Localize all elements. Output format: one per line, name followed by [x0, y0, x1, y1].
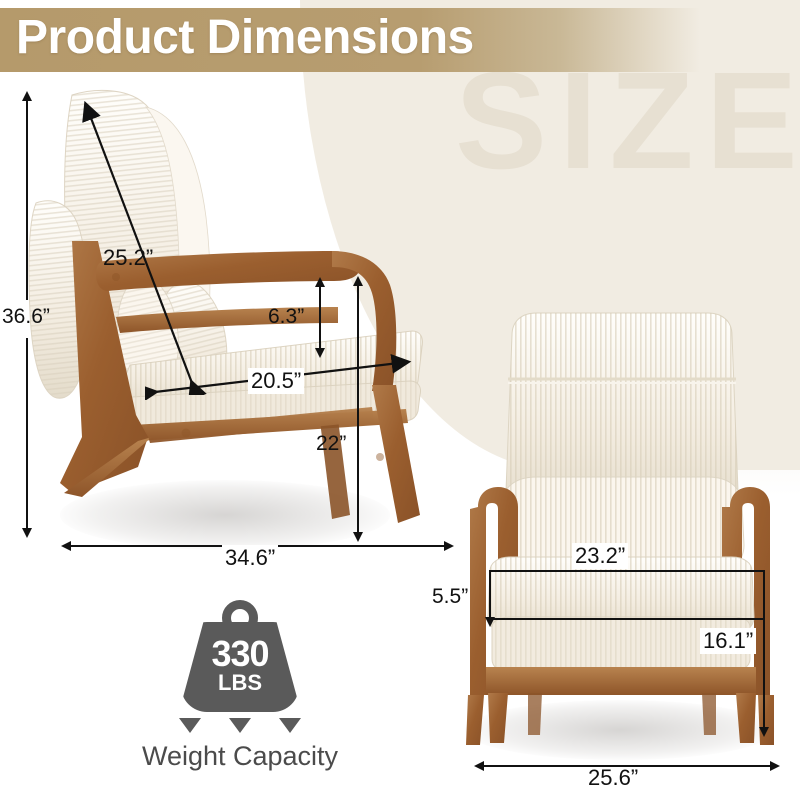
dim-arrow-arm-height-top	[353, 276, 363, 286]
dim-label-overall-width: 25.6”	[588, 765, 638, 791]
dim-line-seat-width	[489, 570, 765, 572]
dim-arrow-overall-depth-left	[61, 541, 71, 551]
product-dimensions-infographic: SIZE Product Dimensions	[0, 0, 800, 800]
dim-label-overall-height: 36.6”	[2, 305, 50, 329]
weight-icon: 330 LBS	[181, 600, 299, 712]
dim-arrow-overall-depth-right	[444, 541, 454, 551]
weight-capacity-block: 330 LBS Weight Capacity	[120, 600, 360, 772]
triangle-down-icon-3	[279, 718, 301, 733]
dim-label-seat-height: 16.1”	[700, 628, 756, 654]
weight-capacity-caption: Weight Capacity	[120, 741, 360, 772]
chair-front-view	[450, 295, 790, 745]
dim-line-seat-width-bottom	[489, 618, 765, 620]
dim-label-backrest-height: 25.2”	[103, 245, 153, 271]
dim-label-seat-width: 23.2”	[572, 543, 628, 569]
dim-label-armrest-clearance: 6.3”	[268, 305, 304, 329]
dim-arrow-overall-width-left	[474, 761, 484, 771]
dim-arrow-overall-width-right	[770, 761, 780, 771]
dim-line-cushion-thickness	[489, 570, 491, 620]
dim-line-seat-width-right	[763, 570, 765, 620]
dim-label-arm-height: 22”	[316, 432, 346, 456]
dim-arrow-seat-height	[759, 727, 769, 737]
dim-line-overall-height-lower	[26, 338, 28, 530]
dim-arrow-overall-height-bottom	[22, 528, 32, 538]
page-title: Product Dimensions	[16, 10, 474, 65]
weight-capacity-number: 330	[181, 636, 299, 672]
triangle-down-icon-1	[179, 718, 201, 733]
dim-line-arm-height	[357, 285, 359, 535]
dim-arrow-overall-height-top	[22, 91, 32, 101]
weight-capacity-unit: LBS	[181, 672, 299, 694]
triangle-down-icon-2	[229, 718, 251, 733]
dim-line-overall-height	[26, 100, 28, 300]
weight-arrows	[120, 718, 360, 733]
dim-line-seat-height	[763, 620, 765, 730]
dim-label-seat-depth: 20.5”	[248, 368, 304, 394]
dim-line-armrest-clearance	[319, 286, 321, 350]
dim-label-cushion-thickness: 5.5”	[432, 585, 468, 609]
dim-arrow-arm-height-bottom	[353, 532, 363, 542]
dim-label-overall-depth: 34.6”	[222, 545, 278, 571]
size-watermark: SIZE	[455, 52, 800, 190]
dim-arrow-armrest-top	[315, 277, 325, 287]
